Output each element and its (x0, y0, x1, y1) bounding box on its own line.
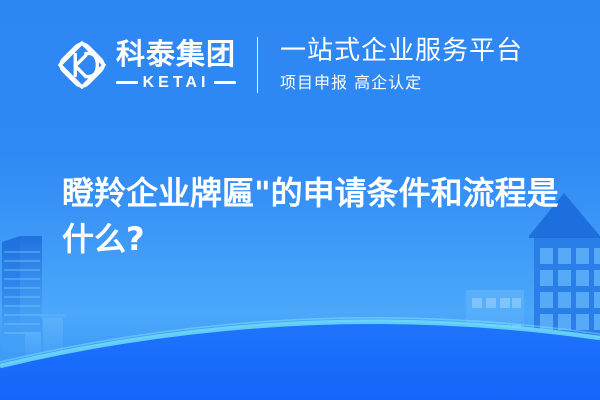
wordmark-rule-left (116, 81, 138, 84)
brand-name-en-row: KETAI (116, 75, 236, 91)
brand-name-en: KETAI (143, 75, 210, 91)
promo-banner: 科泰集团 KETAI 一站式企业服务平台 项目申报 高企认定 瞪羚企业牌匾"的申… (0, 0, 600, 400)
page-title: 瞪羚企业牌匾"的申请条件和流程是什么? (62, 171, 562, 262)
banner-header: 科泰集团 KETAI 一站式企业服务平台 项目申报 高企认定 (0, 0, 600, 130)
left-skyscraper (2, 236, 42, 352)
wordmark-rule-right (214, 81, 236, 84)
header-tagline: 一站式企业服务平台 项目申报 高企认定 (280, 37, 523, 92)
tagline-secondary: 项目申报 高企认定 (280, 74, 523, 92)
brand-name-cn: 科泰集团 (116, 40, 236, 69)
ground-arc (0, 318, 600, 400)
left-low-buildings (25, 314, 66, 358)
brand-logo[interactable]: 科泰集团 KETAI (58, 40, 236, 91)
tagline-primary: 一站式企业服务平台 (280, 37, 523, 67)
brand-logo-wordmark: 科泰集团 KETAI (116, 40, 236, 91)
header-divider (257, 37, 258, 93)
right-low-building (466, 290, 524, 362)
ketai-kt-monogram-logo-icon (58, 41, 106, 89)
